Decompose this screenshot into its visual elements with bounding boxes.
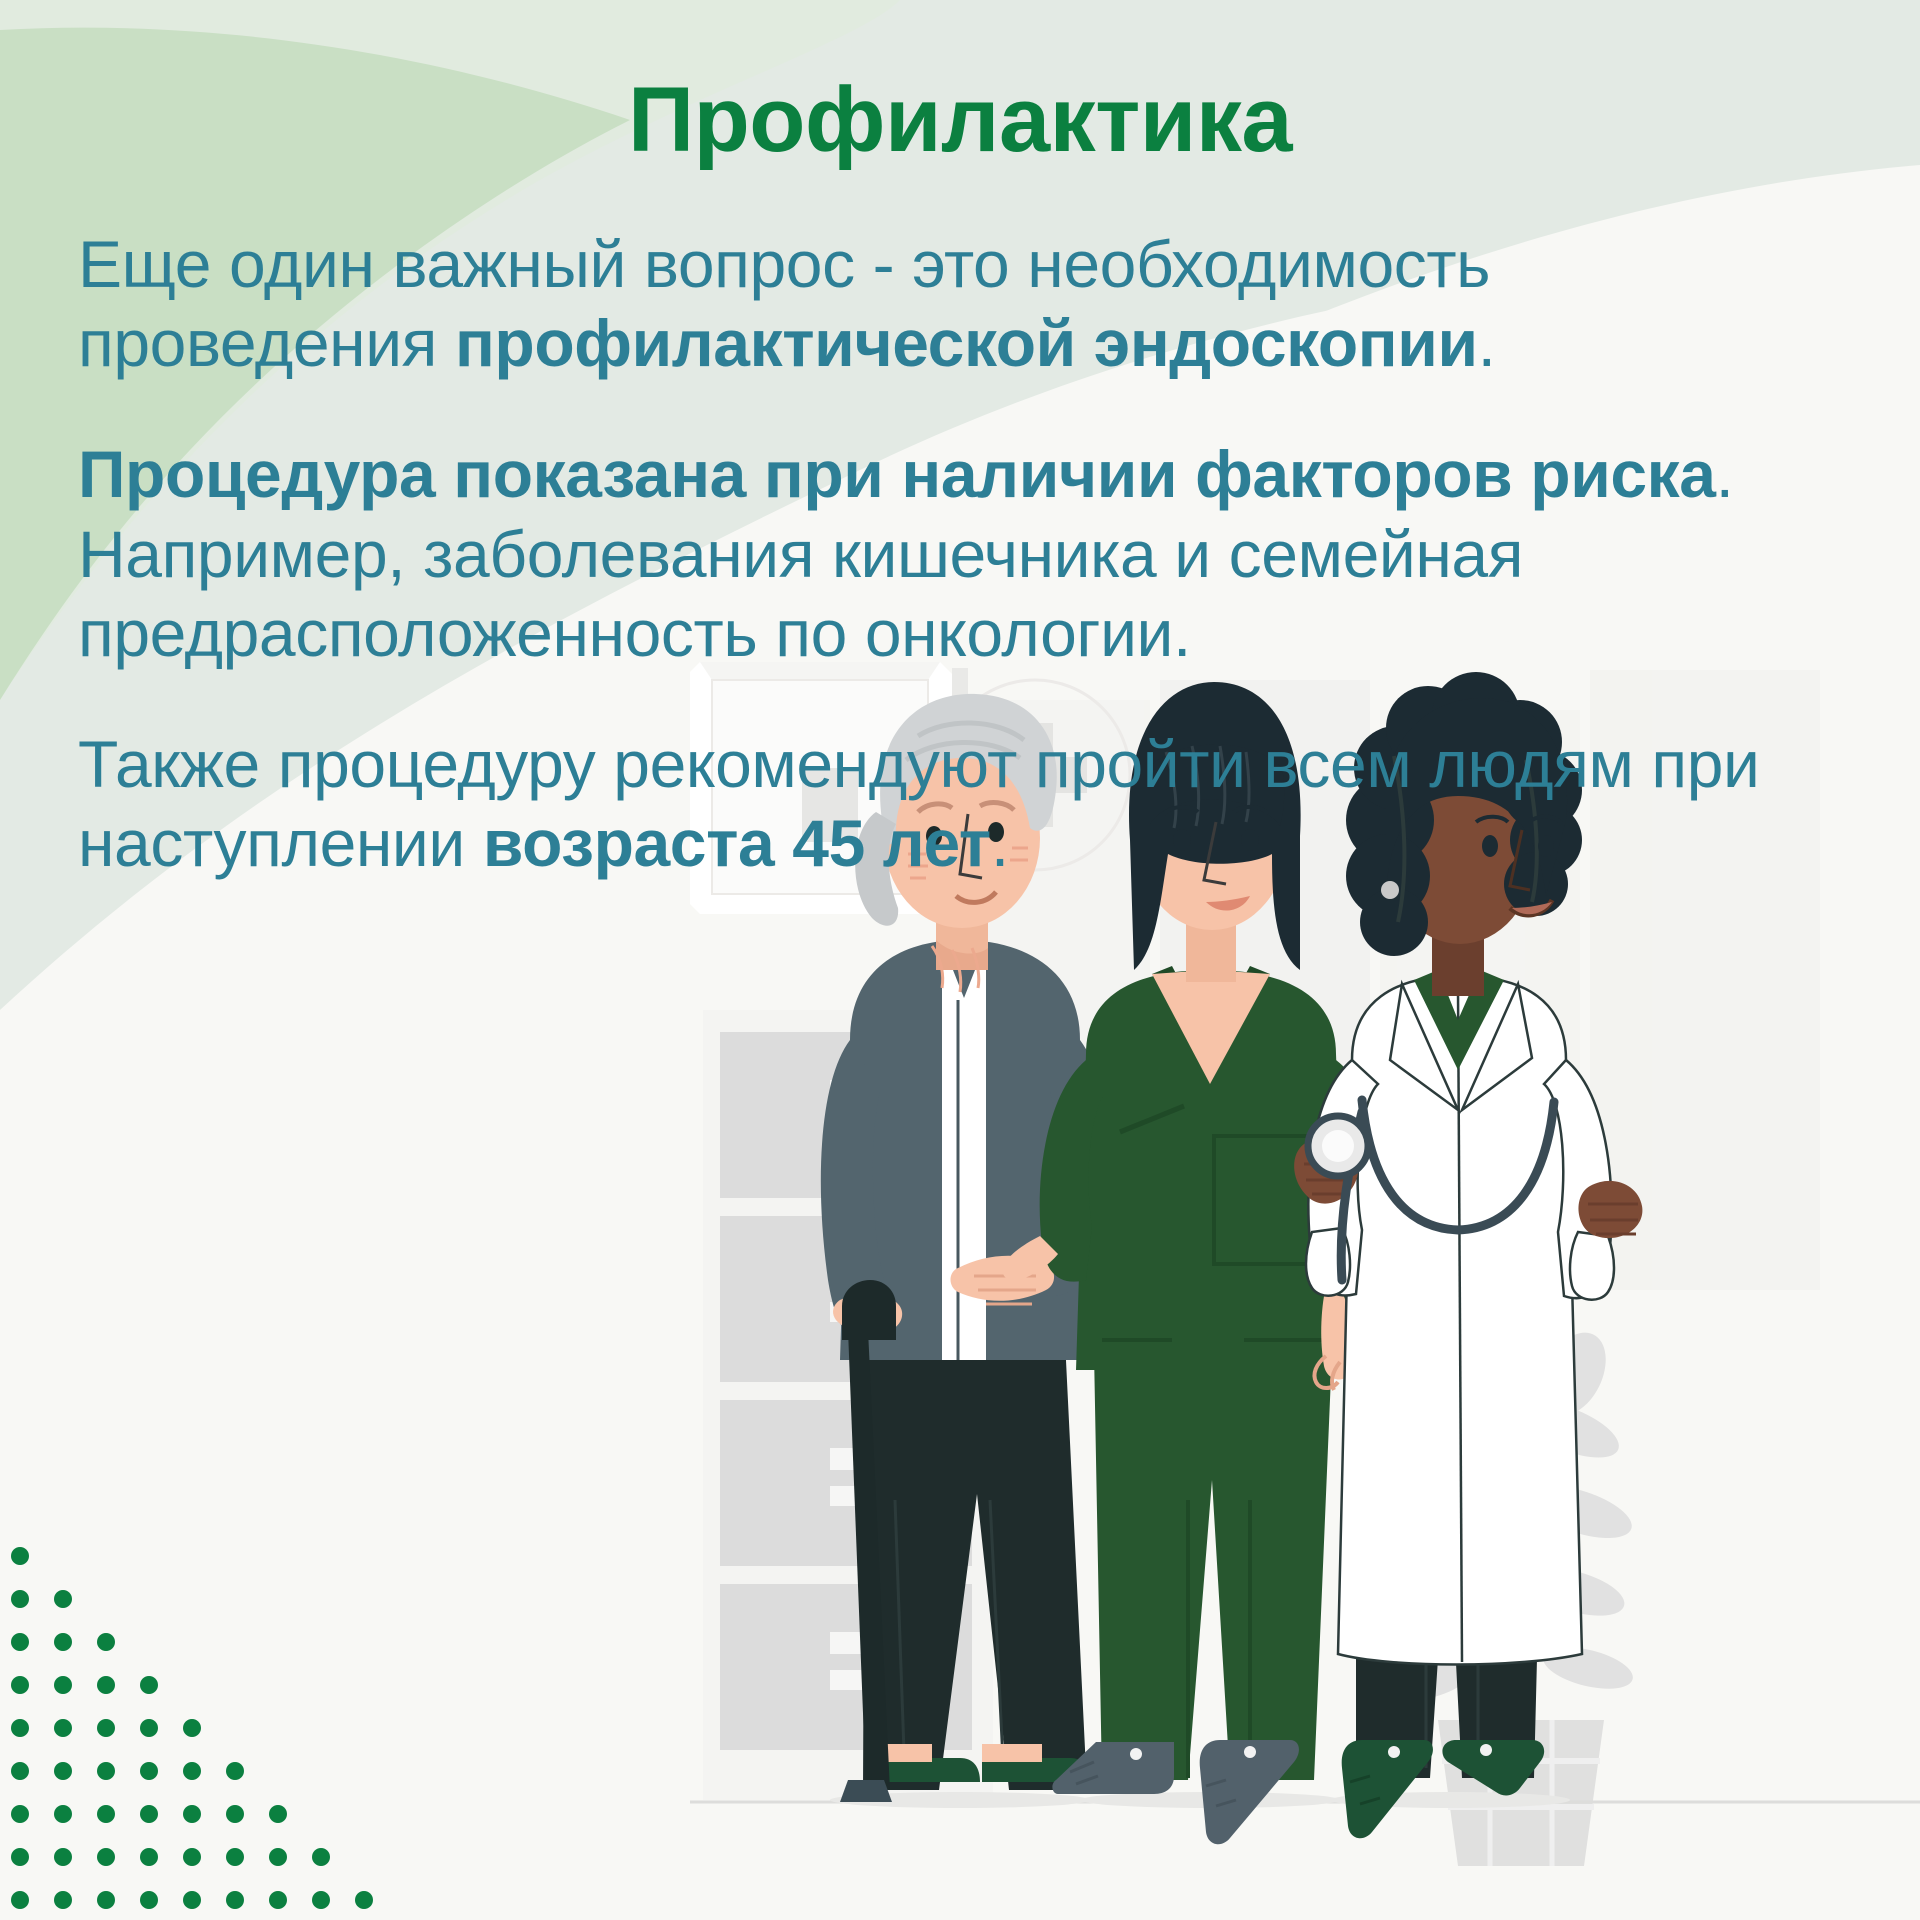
pattern-dot <box>183 1762 201 1780</box>
slide-title: Профилактика <box>0 72 1920 169</box>
pattern-dot <box>54 1848 72 1866</box>
pattern-dot <box>226 1805 244 1823</box>
pattern-dot <box>11 1848 29 1866</box>
pattern-dot <box>183 1848 201 1866</box>
pattern-dot <box>355 1891 373 1909</box>
pattern-dot <box>140 1719 158 1737</box>
pattern-dot <box>269 1805 287 1823</box>
slide-canvas: Профилактика <box>0 0 1920 1920</box>
pattern-dot <box>183 1805 201 1823</box>
pattern-dot <box>97 1633 115 1651</box>
pattern-dot <box>183 1891 201 1909</box>
triangular-dot-pattern <box>0 1520 420 1920</box>
pattern-dot <box>54 1762 72 1780</box>
doctor-shoe-left <box>1342 1740 1433 1838</box>
pattern-dot <box>97 1891 115 1909</box>
pattern-dot <box>97 1805 115 1823</box>
pattern-dot <box>183 1719 201 1737</box>
pattern-dot <box>11 1590 29 1608</box>
pattern-dot <box>140 1848 158 1866</box>
pattern-dot <box>97 1676 115 1694</box>
body-copy: Еще один важный вопрос - это необходимос… <box>78 225 1818 883</box>
pattern-dot <box>312 1848 330 1866</box>
pattern-dot <box>11 1805 29 1823</box>
pattern-dot <box>312 1891 330 1909</box>
pattern-dot <box>97 1762 115 1780</box>
paragraph-2: Процедура показана при наличии факторов … <box>78 435 1818 673</box>
p1-run-2: . <box>1478 306 1496 380</box>
pattern-dot <box>11 1762 29 1780</box>
pattern-dot <box>11 1547 29 1565</box>
p1-run-1: профилактической эндоскопии <box>455 306 1478 380</box>
pattern-dot <box>226 1848 244 1866</box>
pattern-dot <box>269 1891 287 1909</box>
pattern-dot <box>54 1590 72 1608</box>
pattern-dot <box>226 1891 244 1909</box>
pattern-dot <box>269 1848 287 1866</box>
pattern-dot <box>11 1676 29 1694</box>
pattern-dot <box>11 1633 29 1651</box>
pattern-dot <box>54 1676 72 1694</box>
p2-run-0: Процедура показана при наличии факторов … <box>78 437 1716 511</box>
paragraph-3: Также процедуру рекомендуют пройти всем … <box>78 725 1818 883</box>
pattern-dot <box>97 1848 115 1866</box>
p3-run-1: возраста 45 лет <box>483 806 991 880</box>
nurse-shoe-right <box>1200 1740 1299 1844</box>
pattern-dot <box>226 1762 244 1780</box>
earring <box>1381 881 1399 899</box>
paragraph-1: Еще один важный вопрос - это необходимос… <box>78 225 1818 383</box>
pattern-dot <box>54 1633 72 1651</box>
pattern-dot <box>140 1891 158 1909</box>
pattern-dot <box>54 1805 72 1823</box>
pattern-dot <box>97 1719 115 1737</box>
pattern-dot <box>54 1719 72 1737</box>
pattern-dot <box>11 1719 29 1737</box>
p3-run-2: . <box>991 806 1009 880</box>
pattern-dot <box>140 1676 158 1694</box>
pattern-dot <box>140 1762 158 1780</box>
pattern-dot <box>140 1805 158 1823</box>
pattern-dot <box>54 1891 72 1909</box>
pattern-dot <box>11 1891 29 1909</box>
